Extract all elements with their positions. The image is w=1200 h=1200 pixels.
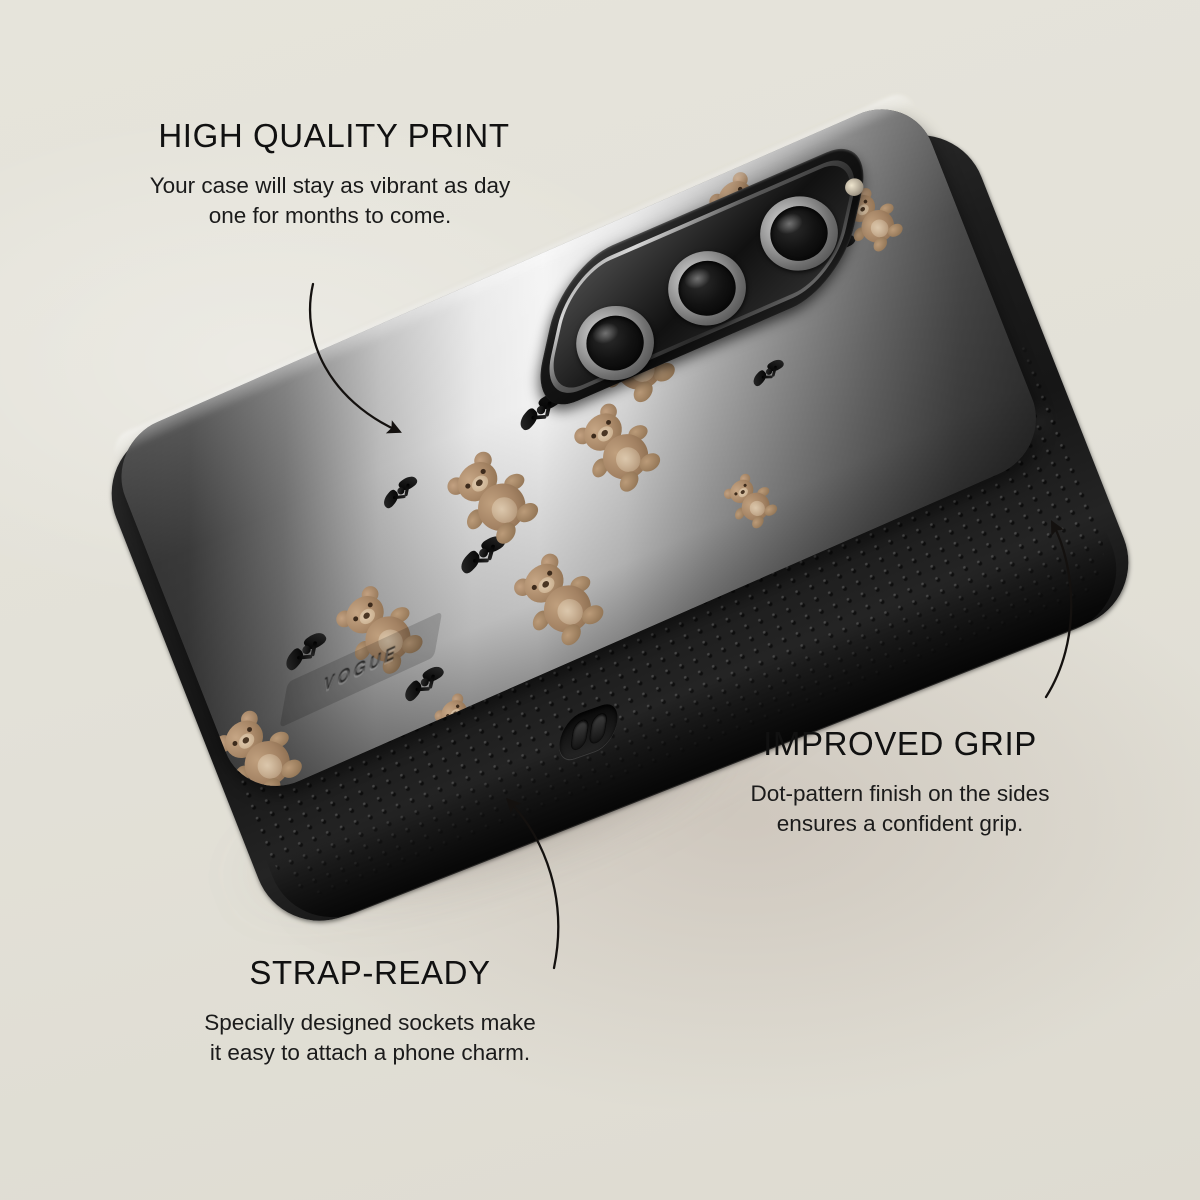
callout-body-line: one for months to come. [0,201,660,231]
callout-improved-grip: IMPROVED GRIP Dot-pattern finish on the … [620,726,1180,839]
teddy-bear-print [717,468,788,540]
teddy-bear-print [503,544,622,664]
callout-body: Specially designed sockets make it easy … [95,1008,645,1068]
callout-title: STRAP-READY [95,955,645,991]
strap-socket-hole [589,712,607,744]
callout-body-line: ensures a confident grip. [620,809,1180,839]
callout-body-line: Dot-pattern finish on the sides [620,779,1180,809]
callout-body-line: Specially designed sockets make [95,1008,645,1038]
teddy-bear-print [563,395,677,511]
callout-title: HIGH QUALITY PRINT [0,118,660,154]
teddy-bear-print [436,442,556,563]
callout-body-line: it easy to attach a phone charm. [95,1038,645,1068]
callout-strap-ready: STRAP-READY Specially designed sockets m… [95,955,645,1068]
camera-lens [749,185,850,282]
callout-body: Dot-pattern finish on the sides ensures … [620,779,1180,839]
callout-title: IMPROVED GRIP [620,726,1180,762]
callout-body: Your case will stay as vibrant as day on… [0,171,660,231]
bow-print [379,470,424,514]
infographic-canvas: VOGUE [0,0,1200,1200]
callout-body-line: Your case will stay as vibrant as day [0,171,660,201]
callout-high-quality-print: HIGH QUALITY PRINT Your case will stay a… [0,118,660,231]
strap-socket-hole [570,719,588,751]
camera-lens [657,240,758,337]
bow-print [750,354,790,392]
